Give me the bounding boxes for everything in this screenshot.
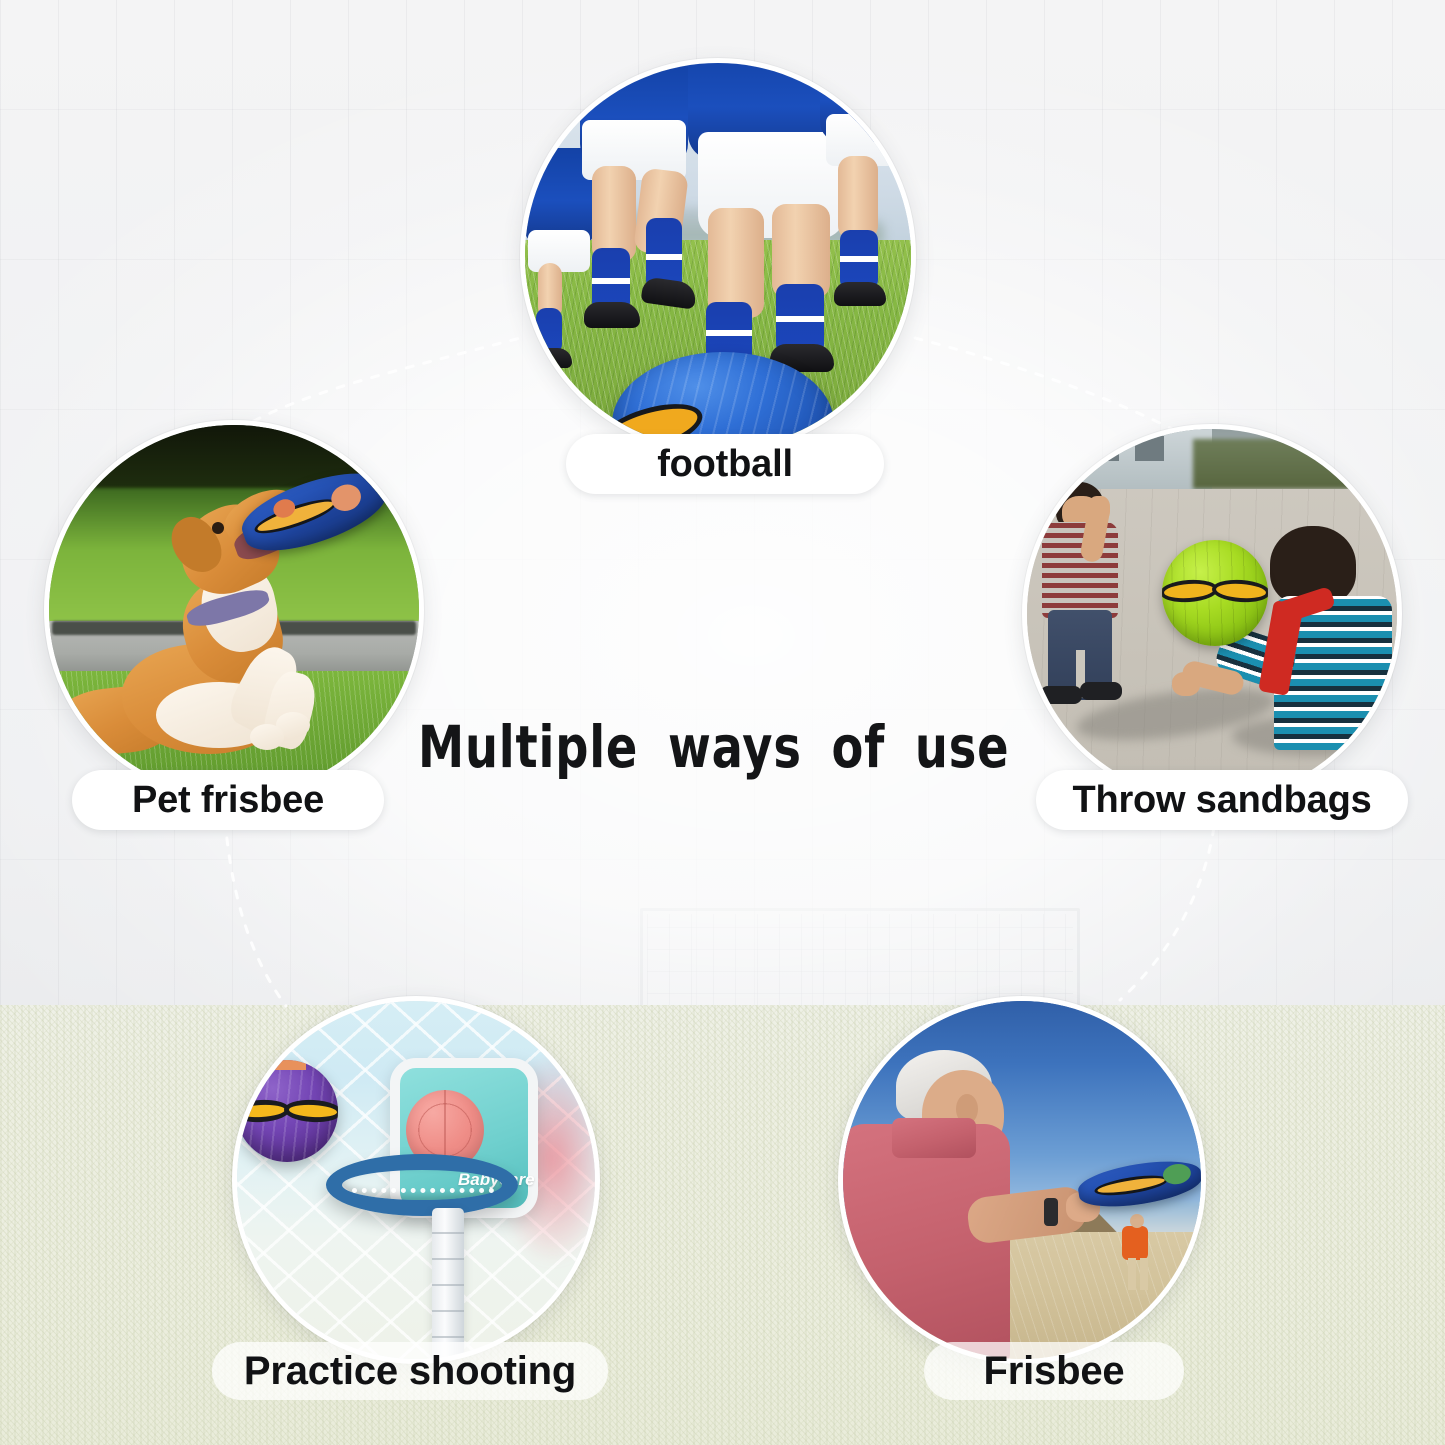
player-right-thigh — [838, 156, 878, 240]
scene-football — [520, 58, 916, 454]
label-frisbee: Frisbee — [924, 1342, 1184, 1400]
label-football: football — [566, 434, 884, 494]
label-pet-frisbee-text: Pet frisbee — [132, 779, 324, 822]
boy-left-shoe-2 — [1080, 682, 1122, 700]
boy-left-shoe-1 — [1040, 686, 1082, 704]
bubble-practice-shooting[interactable]: Babycare — [232, 996, 600, 1364]
man-polo-collar — [892, 1118, 976, 1158]
hoop-net-threads — [352, 1188, 494, 1198]
flying-saucer-ball-purple — [236, 1060, 338, 1162]
label-throw-sandbags: Throw sandbags — [1036, 770, 1408, 830]
distant-person-legs-2 — [1140, 1258, 1148, 1290]
man-watch — [1044, 1198, 1058, 1226]
dog-eye — [212, 522, 224, 534]
player-far-left-shorts — [528, 230, 590, 272]
player-far-left-shoe — [530, 348, 572, 368]
infographic-canvas: football — [0, 0, 1445, 1445]
distant-person-legs — [1128, 1258, 1136, 1290]
scene-frisbee — [838, 996, 1206, 1364]
boy-right-hand — [1172, 672, 1200, 696]
scene-pet-frisbee — [44, 420, 424, 800]
scene-practice-shooting: Babycare — [232, 996, 600, 1364]
label-football-text: football — [657, 443, 793, 486]
boy-left-hand — [1088, 496, 1110, 522]
hoop-pole — [432, 1208, 464, 1364]
distant-person-head — [1130, 1214, 1144, 1228]
building-window-1 — [1088, 436, 1120, 462]
hoop-rim — [326, 1154, 518, 1216]
flying-saucer-ball-green — [1162, 540, 1268, 646]
sandbags-treeline — [1193, 439, 1402, 488]
dog-paw-2 — [250, 724, 284, 750]
label-practice-shooting: Practice shooting — [212, 1342, 608, 1400]
scene-throw-sandbags — [1022, 424, 1402, 804]
man-polo-shirt — [842, 1124, 1010, 1364]
building-window-2 — [1135, 436, 1164, 462]
page-title: Multiple ways of use — [418, 718, 1009, 776]
label-practice-shooting-text: Practice shooting — [244, 1349, 576, 1394]
bubble-football[interactable] — [520, 58, 916, 454]
bubble-pet-frisbee[interactable] — [44, 420, 424, 800]
bubble-frisbee[interactable] — [838, 996, 1206, 1364]
bubble-throw-sandbags[interactable] — [1022, 424, 1402, 804]
player-left-shoe — [584, 302, 640, 328]
boy-left-shirt — [1042, 522, 1118, 618]
distant-person-shirt — [1122, 1226, 1148, 1260]
label-frisbee-text: Frisbee — [984, 1349, 1125, 1394]
player-right-shoe — [834, 282, 886, 306]
label-throw-sandbags-text: Throw sandbags — [1072, 779, 1371, 822]
label-pet-frisbee: Pet frisbee — [72, 770, 384, 830]
sandbags-building — [1052, 424, 1212, 489]
player-right-sock — [840, 230, 878, 290]
